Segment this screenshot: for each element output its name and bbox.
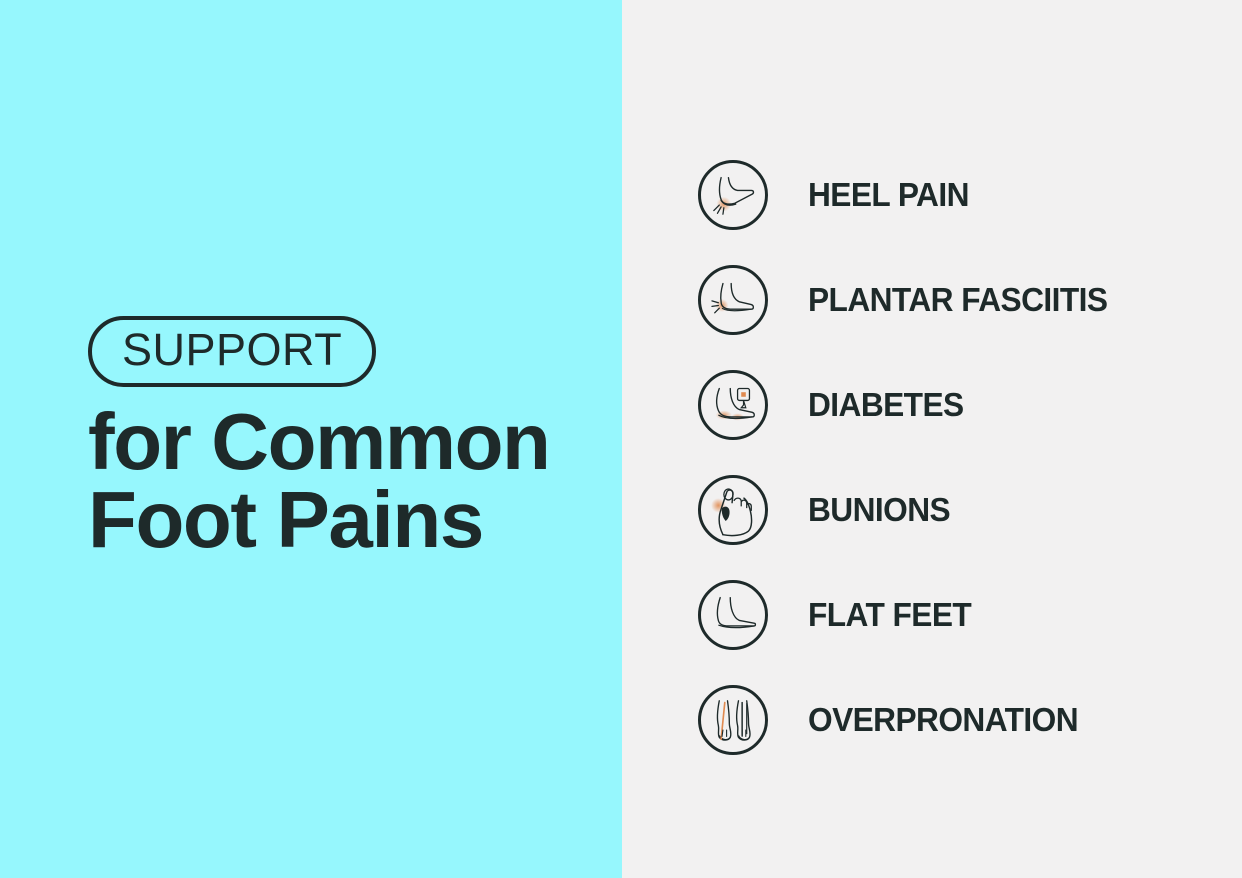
- eyebrow-pill: SUPPORT: [88, 316, 376, 387]
- list-item: FLAT FEET: [698, 580, 1120, 650]
- headline-line-2: Foot Pains: [88, 481, 550, 559]
- page-title: for Common Foot Pains: [88, 403, 550, 560]
- list-item: OVERPRONATION: [698, 685, 1120, 755]
- list-item: BUNIONS: [698, 475, 1120, 545]
- condition-label: OVERPRONATION: [808, 701, 1078, 739]
- headline-line-1: for Common: [88, 403, 550, 481]
- condition-list: HEEL PAIN: [698, 160, 1120, 755]
- right-conditions-panel: HEEL PAIN: [622, 0, 1242, 878]
- foot-heel-pain-icon: [698, 160, 768, 230]
- list-item: HEEL PAIN: [698, 160, 1120, 230]
- condition-label: BUNIONS: [808, 491, 950, 529]
- condition-label: FLAT FEET: [808, 596, 971, 634]
- foot-bunion-icon: [698, 475, 768, 545]
- foot-plantar-fasciitis-icon: [698, 265, 768, 335]
- condition-label: DIABETES: [808, 386, 964, 424]
- foot-flat-feet-icon: [698, 580, 768, 650]
- list-item: PLANTAR FASCIITIS: [698, 265, 1120, 335]
- foot-diabetes-icon: [698, 370, 768, 440]
- condition-label: PLANTAR FASCIITIS: [808, 281, 1107, 319]
- infographic-poster: SUPPORT for Common Foot Pains: [0, 0, 1242, 878]
- headline-block: SUPPORT for Common Foot Pains: [88, 316, 550, 560]
- list-item: DIABETES: [698, 370, 1120, 440]
- eyebrow-label: SUPPORT: [122, 327, 342, 372]
- legs-overpronation-icon: [698, 685, 768, 755]
- condition-label: HEEL PAIN: [808, 176, 969, 214]
- left-headline-panel: SUPPORT for Common Foot Pains: [0, 0, 622, 878]
